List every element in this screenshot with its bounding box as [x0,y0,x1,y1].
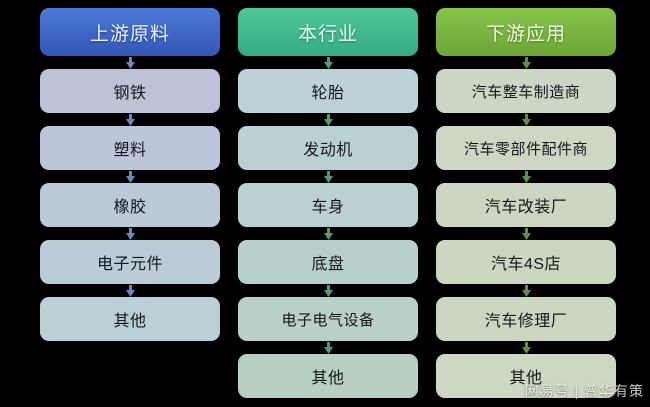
column-header-downstream[interactable]: 下游应用 [436,8,616,56]
column-header-industry[interactable]: 本行业 [238,8,418,56]
arrow-down-icon [40,56,220,69]
node-industry-5[interactable]: 其他 [238,354,418,398]
arrow-down-icon [40,170,220,183]
node-downstream-1[interactable]: 汽车零部件配件商 [436,126,616,170]
column-downstream: 下游应用汽车整车制造商汽车零部件配件商汽车改装厂汽车4S店汽车修理厂其他 [436,8,616,407]
node-industry-0[interactable]: 轮胎 [238,69,418,113]
arrow-down-icon [40,113,220,126]
node-upstream-0[interactable]: 钢铁 [40,69,220,113]
node-downstream-4[interactable]: 汽车修理厂 [436,297,616,341]
node-downstream-2[interactable]: 汽车改装厂 [436,183,616,227]
arrow-down-icon [40,227,220,240]
node-upstream-3[interactable]: 电子元件 [40,240,220,284]
node-industry-2[interactable]: 车身 [238,183,418,227]
node-downstream-5[interactable]: 其他 [436,354,616,398]
node-industry-3[interactable]: 底盘 [238,240,418,284]
arrow-down-icon [238,170,418,183]
column-upstream: 上游原料钢铁塑料橡胶电子元件其他 [40,8,220,407]
arrow-down-icon [436,113,616,126]
arrow-down-icon [238,341,418,354]
arrow-down-icon [436,56,616,69]
arrow-down-icon [436,341,616,354]
arrow-down-icon [238,56,418,69]
column-header-upstream[interactable]: 上游原料 [40,8,220,56]
arrow-down-icon [238,227,418,240]
arrow-down-icon [436,284,616,297]
node-downstream-3[interactable]: 汽车4S店 [436,240,616,284]
arrow-down-icon [238,113,418,126]
supply-chain-diagram: 上游原料钢铁塑料橡胶电子元件其他本行业轮胎发动机车身底盘电子电气设备其他下游应用… [0,0,650,407]
arrow-down-icon [40,284,220,297]
arrow-down-icon [436,170,616,183]
arrow-down-icon [436,227,616,240]
node-upstream-1[interactable]: 塑料 [40,126,220,170]
node-downstream-0[interactable]: 汽车整车制造商 [436,69,616,113]
node-industry-4[interactable]: 电子电气设备 [238,297,418,341]
node-upstream-4[interactable]: 其他 [40,297,220,341]
arrow-down-icon [238,284,418,297]
node-industry-1[interactable]: 发动机 [238,126,418,170]
node-upstream-2[interactable]: 橡胶 [40,183,220,227]
column-industry: 本行业轮胎发动机车身底盘电子电气设备其他 [238,8,418,407]
